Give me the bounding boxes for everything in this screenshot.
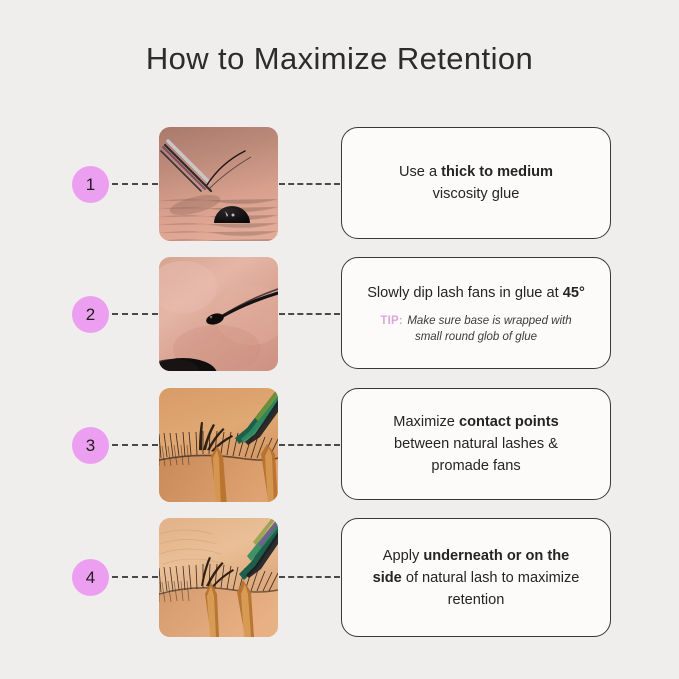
step-text-line: viscosity glue <box>433 183 520 205</box>
step-text-line: side of natural lash to maximize <box>373 567 580 589</box>
step-text-box-3: Maximize contact points between natural … <box>341 388 611 500</box>
step-image-1 <box>159 127 278 241</box>
step-image-3 <box>159 388 278 502</box>
step-text-line: Maximize contact points <box>393 411 558 433</box>
tip-text-line-2: small round glob of glue <box>380 329 571 345</box>
step-text-line: Use a thick to medium <box>399 161 553 183</box>
connector-line-image-to-box <box>279 183 340 185</box>
connector-line-image-to-box <box>279 313 340 315</box>
step-number-badge-2: 2 <box>72 296 109 333</box>
step-row: 4 <box>0 518 679 632</box>
step-number-label: 4 <box>86 568 95 588</box>
step-row: 3 <box>0 388 679 502</box>
step-text-line: between natural lashes & <box>394 433 558 455</box>
connector-line-badge-to-image <box>112 313 158 315</box>
step-text-box-1: Use a thick to medium viscosity glue <box>341 127 611 239</box>
tip-text-line-1: Make sure base is wrapped with <box>407 315 571 327</box>
page-title: How to Maximize Retention <box>0 41 679 77</box>
step-text-line: Slowly dip lash fans in glue at 45° <box>367 282 585 304</box>
step-text-box-2: Slowly dip lash fans in glue at 45° TIP:… <box>341 257 611 369</box>
connector-line-badge-to-image <box>112 576 158 578</box>
connector-line-badge-to-image <box>112 444 158 446</box>
step-text-box-4: Apply underneath or on the side of natur… <box>341 518 611 637</box>
step-number-label: 3 <box>86 436 95 456</box>
tip-label: TIP: <box>380 315 403 327</box>
step-image-2 <box>159 257 278 371</box>
connector-line-image-to-box <box>279 444 340 446</box>
step-image-4 <box>159 518 278 637</box>
step-tip: TIP: Make sure base is wrapped with smal… <box>380 311 571 345</box>
step-text-line: promade fans <box>431 455 520 477</box>
step-row: 1 <box>0 127 679 241</box>
step-text-line: Apply underneath or on the <box>383 545 570 567</box>
step-number-badge-4: 4 <box>72 559 109 596</box>
connector-line-badge-to-image <box>112 183 158 185</box>
connector-line-image-to-box <box>279 576 340 578</box>
step-number-badge-3: 3 <box>72 427 109 464</box>
step-number-label: 1 <box>86 175 95 195</box>
step-row: 2 Slowly dip <box>0 257 679 371</box>
step-number-badge-1: 1 <box>72 166 109 203</box>
step-number-label: 2 <box>86 305 95 325</box>
step-text-line: retention <box>448 589 505 611</box>
